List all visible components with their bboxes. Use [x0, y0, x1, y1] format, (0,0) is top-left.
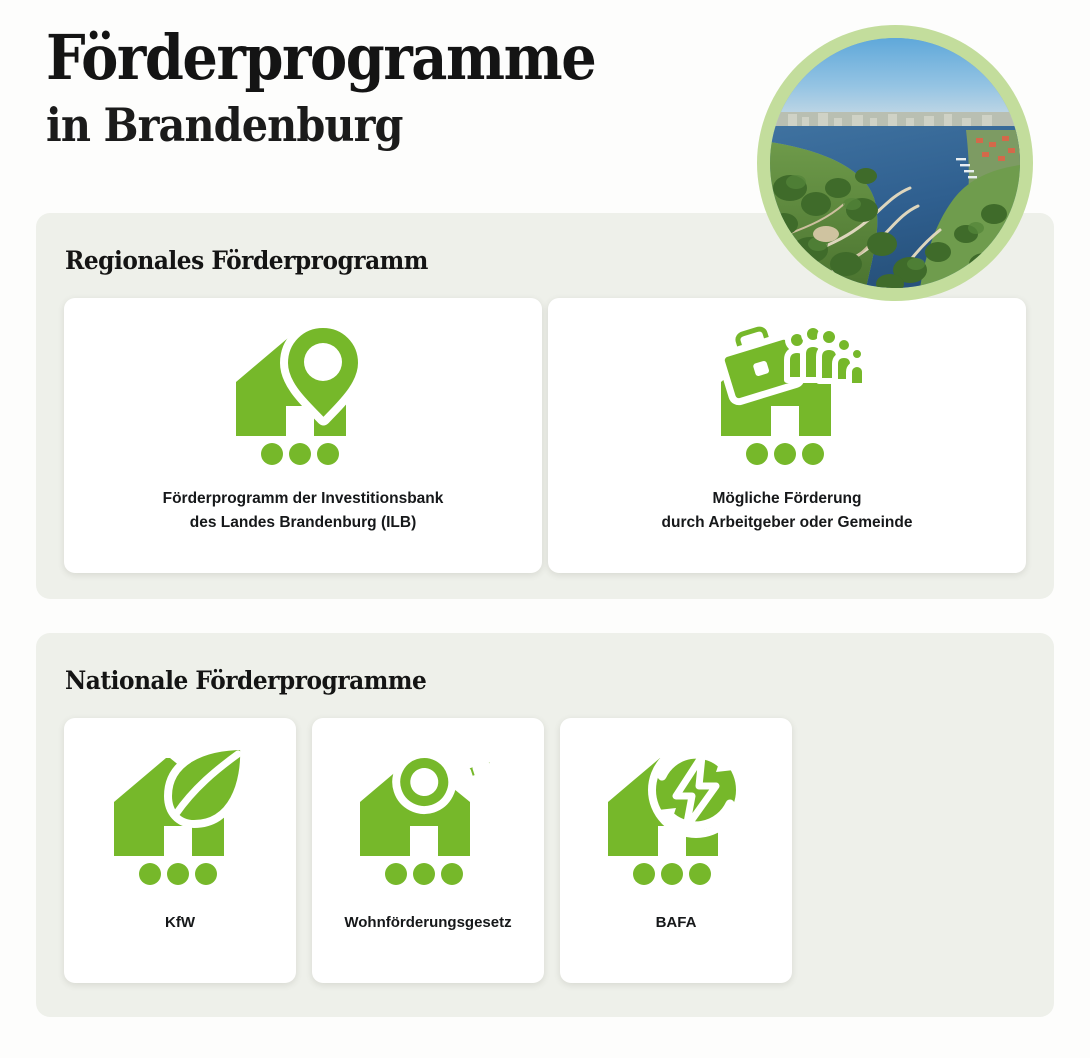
house-energy-cycle-icon	[600, 740, 752, 895]
section-nationale-foerderprogramme: Nationale Förderprogramme KfW	[36, 633, 1054, 1017]
card-arbeitgeber-gemeinde[interactable]: Mögliche Förderung durch Arbeitgeber ode…	[548, 298, 1026, 573]
card-label-bafa: BAFA	[656, 911, 697, 934]
card-label-arbeitgeber-gemeinde: Mögliche Förderung durch Arbeitgeber ode…	[662, 487, 913, 535]
page-title: Förderprogramme	[46, 26, 676, 90]
house-key-icon	[352, 740, 504, 895]
card-label-kfw: KfW	[165, 911, 195, 934]
card-label-ilb: Förderprogramm der Investitionsbank des …	[163, 487, 444, 535]
page-header: Förderprogramme in Brandenburg	[46, 26, 746, 151]
section-title-regional: Regionales Förderprogramm	[65, 246, 428, 275]
card-bafa[interactable]: BAFA	[560, 718, 792, 983]
card-wohnfoerderungsgesetz[interactable]: Wohnförderungsgesetz	[312, 718, 544, 983]
hero-photo-image	[770, 38, 1020, 288]
card-ilb[interactable]: Förderprogramm der Investitionsbank des …	[64, 298, 542, 573]
section-title-national: Nationale Förderprogramme	[65, 666, 426, 695]
house-location-pin-icon	[228, 320, 378, 477]
infographic-page: Förderprogramme in Brandenburg	[0, 0, 1090, 1058]
house-briefcase-people-icon	[709, 320, 865, 477]
house-leaf-icon	[106, 740, 254, 895]
hero-photo-ring	[757, 25, 1033, 301]
card-kfw[interactable]: KfW	[64, 718, 296, 983]
card-label-wohnfoerderungsgesetz: Wohnförderungsgesetz	[344, 911, 511, 934]
page-subtitle: in Brandenburg	[46, 100, 676, 151]
aerial-landscape-illustration	[770, 38, 1020, 288]
